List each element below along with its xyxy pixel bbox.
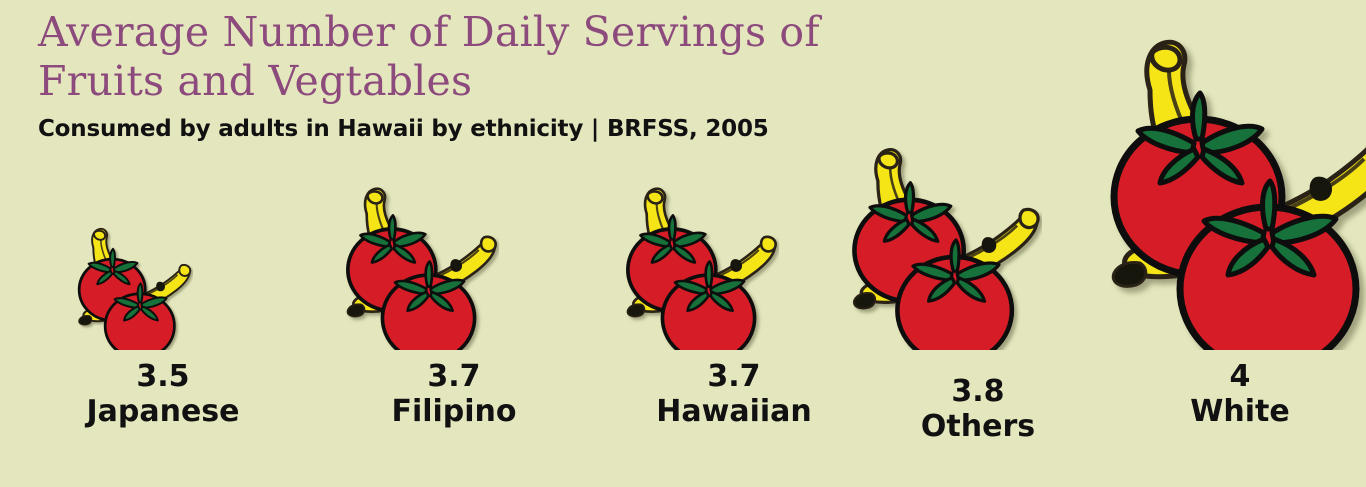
group-value: 3.7 <box>656 360 811 394</box>
fruit-illustration-svg <box>609 185 779 350</box>
group-labels: 3.7Filipino <box>391 360 516 430</box>
fruit-illustration-svg <box>65 226 193 350</box>
group-ethnicity-label: White <box>1190 394 1289 430</box>
pictograph-group: 4White <box>1060 0 1366 487</box>
group-ethnicity-label: Filipino <box>391 394 516 430</box>
fruit-illustration <box>65 226 261 350</box>
group-value: 3.5 <box>86 360 239 394</box>
group-ethnicity-label: Others <box>921 409 1035 445</box>
fruit-illustration-svg <box>329 185 499 350</box>
group-labels: 3.7Hawaiian <box>656 360 811 430</box>
group-labels: 3.8Others <box>921 375 1035 445</box>
fruit-illustration-svg <box>1078 35 1366 350</box>
group-ethnicity-label: Japanese <box>86 394 239 430</box>
group-ethnicity-label: Hawaiian <box>656 394 811 430</box>
group-value: 3.7 <box>391 360 516 394</box>
group-labels: 3.5Japanese <box>86 360 239 430</box>
group-labels: 4White <box>1190 360 1289 430</box>
fruit-illustration <box>329 185 579 350</box>
fruit-illustration-svg <box>831 145 1043 350</box>
pictograph-groups: 3.5Japanese <box>0 0 1366 487</box>
group-value: 4 <box>1190 360 1289 394</box>
infographic-canvas: Average Number of Daily Servings of Frui… <box>0 0 1366 487</box>
fruit-illustration <box>1078 35 1366 350</box>
group-value: 3.8 <box>921 375 1035 409</box>
